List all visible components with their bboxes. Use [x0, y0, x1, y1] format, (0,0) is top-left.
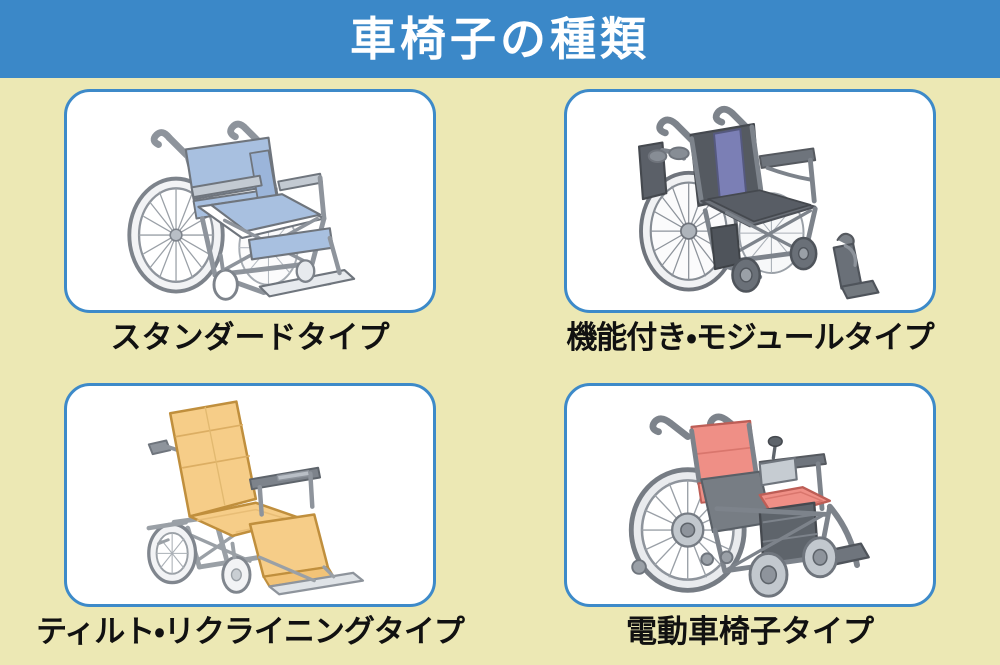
page-title: 車椅子の種類: [350, 16, 650, 62]
grid-cell-electric: 電動車椅子タイプ: [500, 372, 1000, 665]
header-banner: 車椅子の種類: [0, 0, 1000, 78]
poster-root: 車椅子の種類: [0, 0, 1000, 665]
card-label-modular: 機能付き・モジュールタイプ: [566, 322, 933, 355]
grid-cell-standard: スタンダードタイプ: [0, 78, 500, 372]
card-label-standard: スタンダードタイプ: [111, 322, 390, 355]
card-modular[interactable]: [564, 89, 936, 313]
electric-wheelchair-illustration: [567, 386, 933, 604]
reclining-wheelchair-illustration: [67, 386, 433, 604]
standard-wheelchair-illustration: [67, 92, 433, 310]
card-standard[interactable]: [64, 89, 436, 313]
wheelchair-type-grid: スタンダードタイプ: [0, 78, 1000, 665]
card-label-electric: 電動車椅子タイプ: [626, 616, 874, 649]
card-electric[interactable]: [564, 383, 936, 607]
grid-cell-modular: 機能付き・モジュールタイプ: [500, 78, 1000, 372]
grid-cell-tilt-reclining: ティルト・リクライニングタイプ: [0, 372, 500, 665]
modular-wheelchair-illustration: [567, 92, 933, 310]
card-label-tilt-reclining: ティルト・リクライニングタイプ: [36, 616, 464, 649]
card-tilt-reclining[interactable]: [64, 383, 436, 607]
